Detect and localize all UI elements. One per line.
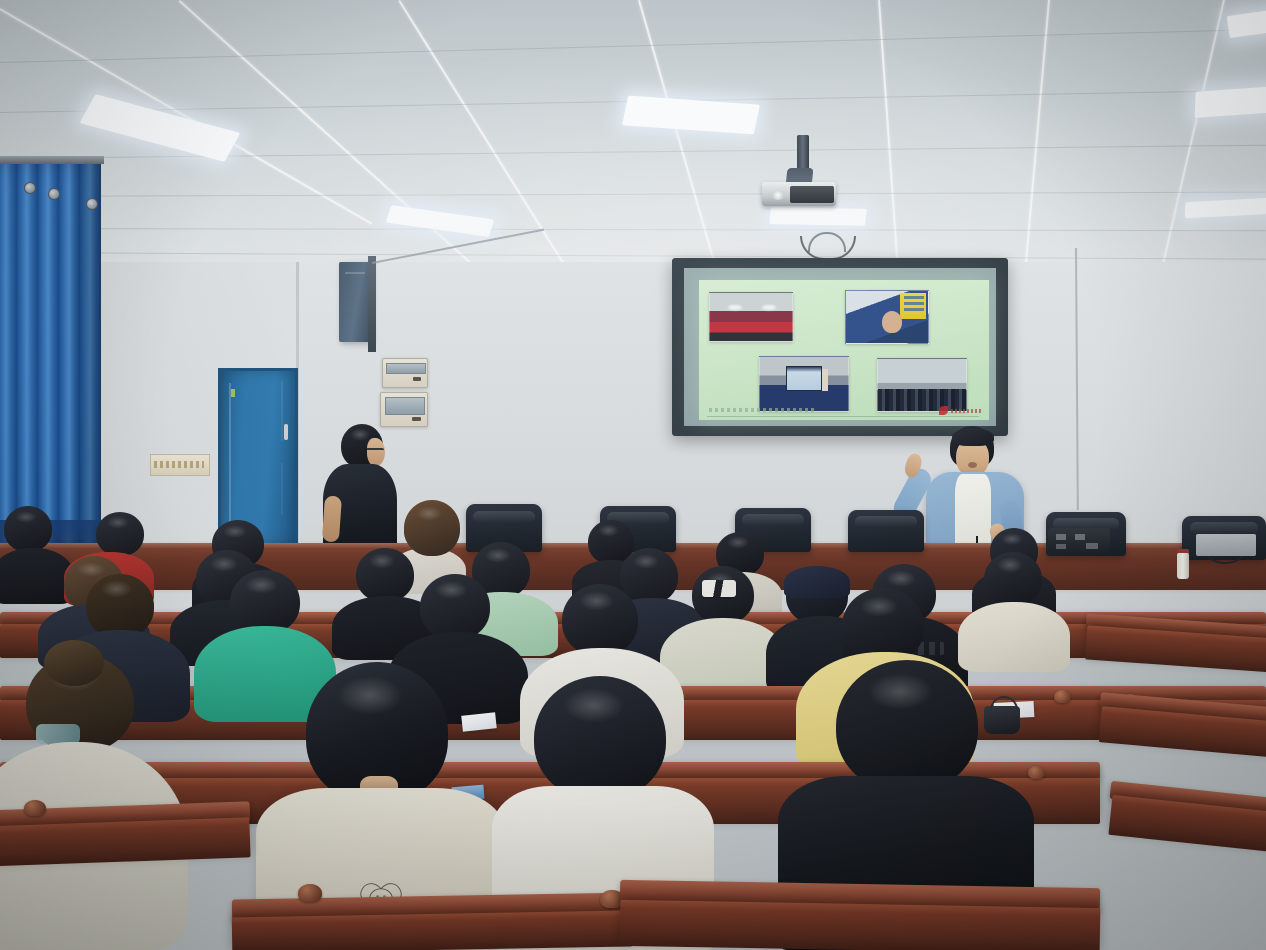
slide-footer-caption bbox=[709, 408, 817, 412]
standing-attendee-left-arm bbox=[322, 495, 342, 542]
attendee-head bbox=[562, 584, 638, 656]
hair-claw-clip-icon bbox=[702, 580, 736, 597]
foreground-desk bbox=[232, 911, 633, 950]
curtain-rod bbox=[0, 156, 104, 164]
presenter-mouth bbox=[968, 462, 977, 468]
projector-lens bbox=[772, 190, 784, 200]
brand-logo-mark bbox=[939, 406, 948, 415]
attendee-head bbox=[404, 500, 460, 556]
slide-photo-bottom-right bbox=[877, 358, 967, 412]
speaker-bracket bbox=[368, 256, 376, 352]
hair-bun bbox=[44, 640, 104, 686]
desk-knob bbox=[1028, 766, 1045, 779]
attendee-head bbox=[534, 676, 666, 800]
attendee-head bbox=[984, 552, 1042, 606]
projector-top-cover bbox=[790, 186, 834, 203]
window-curtain bbox=[0, 160, 101, 555]
navy-cap-icon bbox=[784, 566, 850, 598]
classroom-door[interactable] bbox=[218, 368, 298, 546]
attendee-head bbox=[4, 506, 52, 552]
brand-logo bbox=[939, 406, 981, 415]
electrical-panel-upper bbox=[382, 358, 428, 388]
ceiling-light-5 bbox=[769, 207, 867, 226]
av-equipment bbox=[1048, 528, 1110, 554]
hair-tie bbox=[36, 724, 80, 744]
wall-plaque-text bbox=[154, 461, 204, 468]
attendee-body bbox=[958, 602, 1070, 672]
slide-photo-bottom-left bbox=[759, 356, 849, 412]
curtain-grommet bbox=[48, 188, 60, 200]
attendee-head bbox=[86, 574, 154, 638]
lecture-hall-photo bbox=[0, 0, 1266, 950]
water-bottle bbox=[1177, 553, 1189, 579]
desk-knob bbox=[24, 800, 46, 816]
front-row-chair[interactable] bbox=[848, 510, 924, 552]
attendee-body bbox=[0, 548, 74, 604]
attendee-head bbox=[356, 548, 414, 602]
electrical-panel-lower bbox=[380, 392, 428, 427]
desk-knob bbox=[298, 884, 322, 902]
attendee-head bbox=[836, 660, 978, 792]
brand-logo-wordmark bbox=[951, 409, 981, 413]
presentation-slide bbox=[699, 280, 989, 420]
suspended-tile-ceiling bbox=[0, 0, 1266, 262]
attendee-head bbox=[230, 570, 300, 634]
slide-photo-top-right bbox=[845, 290, 929, 344]
foreground-desk-left bbox=[0, 817, 251, 866]
foreground-desk-right bbox=[620, 900, 1101, 950]
door-handle[interactable] bbox=[284, 424, 288, 440]
slide-photo-top-left bbox=[709, 292, 793, 342]
wall-speaker bbox=[339, 262, 371, 342]
presenter-hair-front bbox=[952, 428, 994, 446]
eyeglasses-icon bbox=[366, 448, 384, 455]
curtain-grommet bbox=[24, 182, 36, 194]
attendee-head bbox=[420, 574, 490, 640]
desk-knob bbox=[1054, 690, 1071, 703]
curtain-grommet bbox=[86, 198, 98, 210]
attendee-head bbox=[96, 512, 144, 556]
